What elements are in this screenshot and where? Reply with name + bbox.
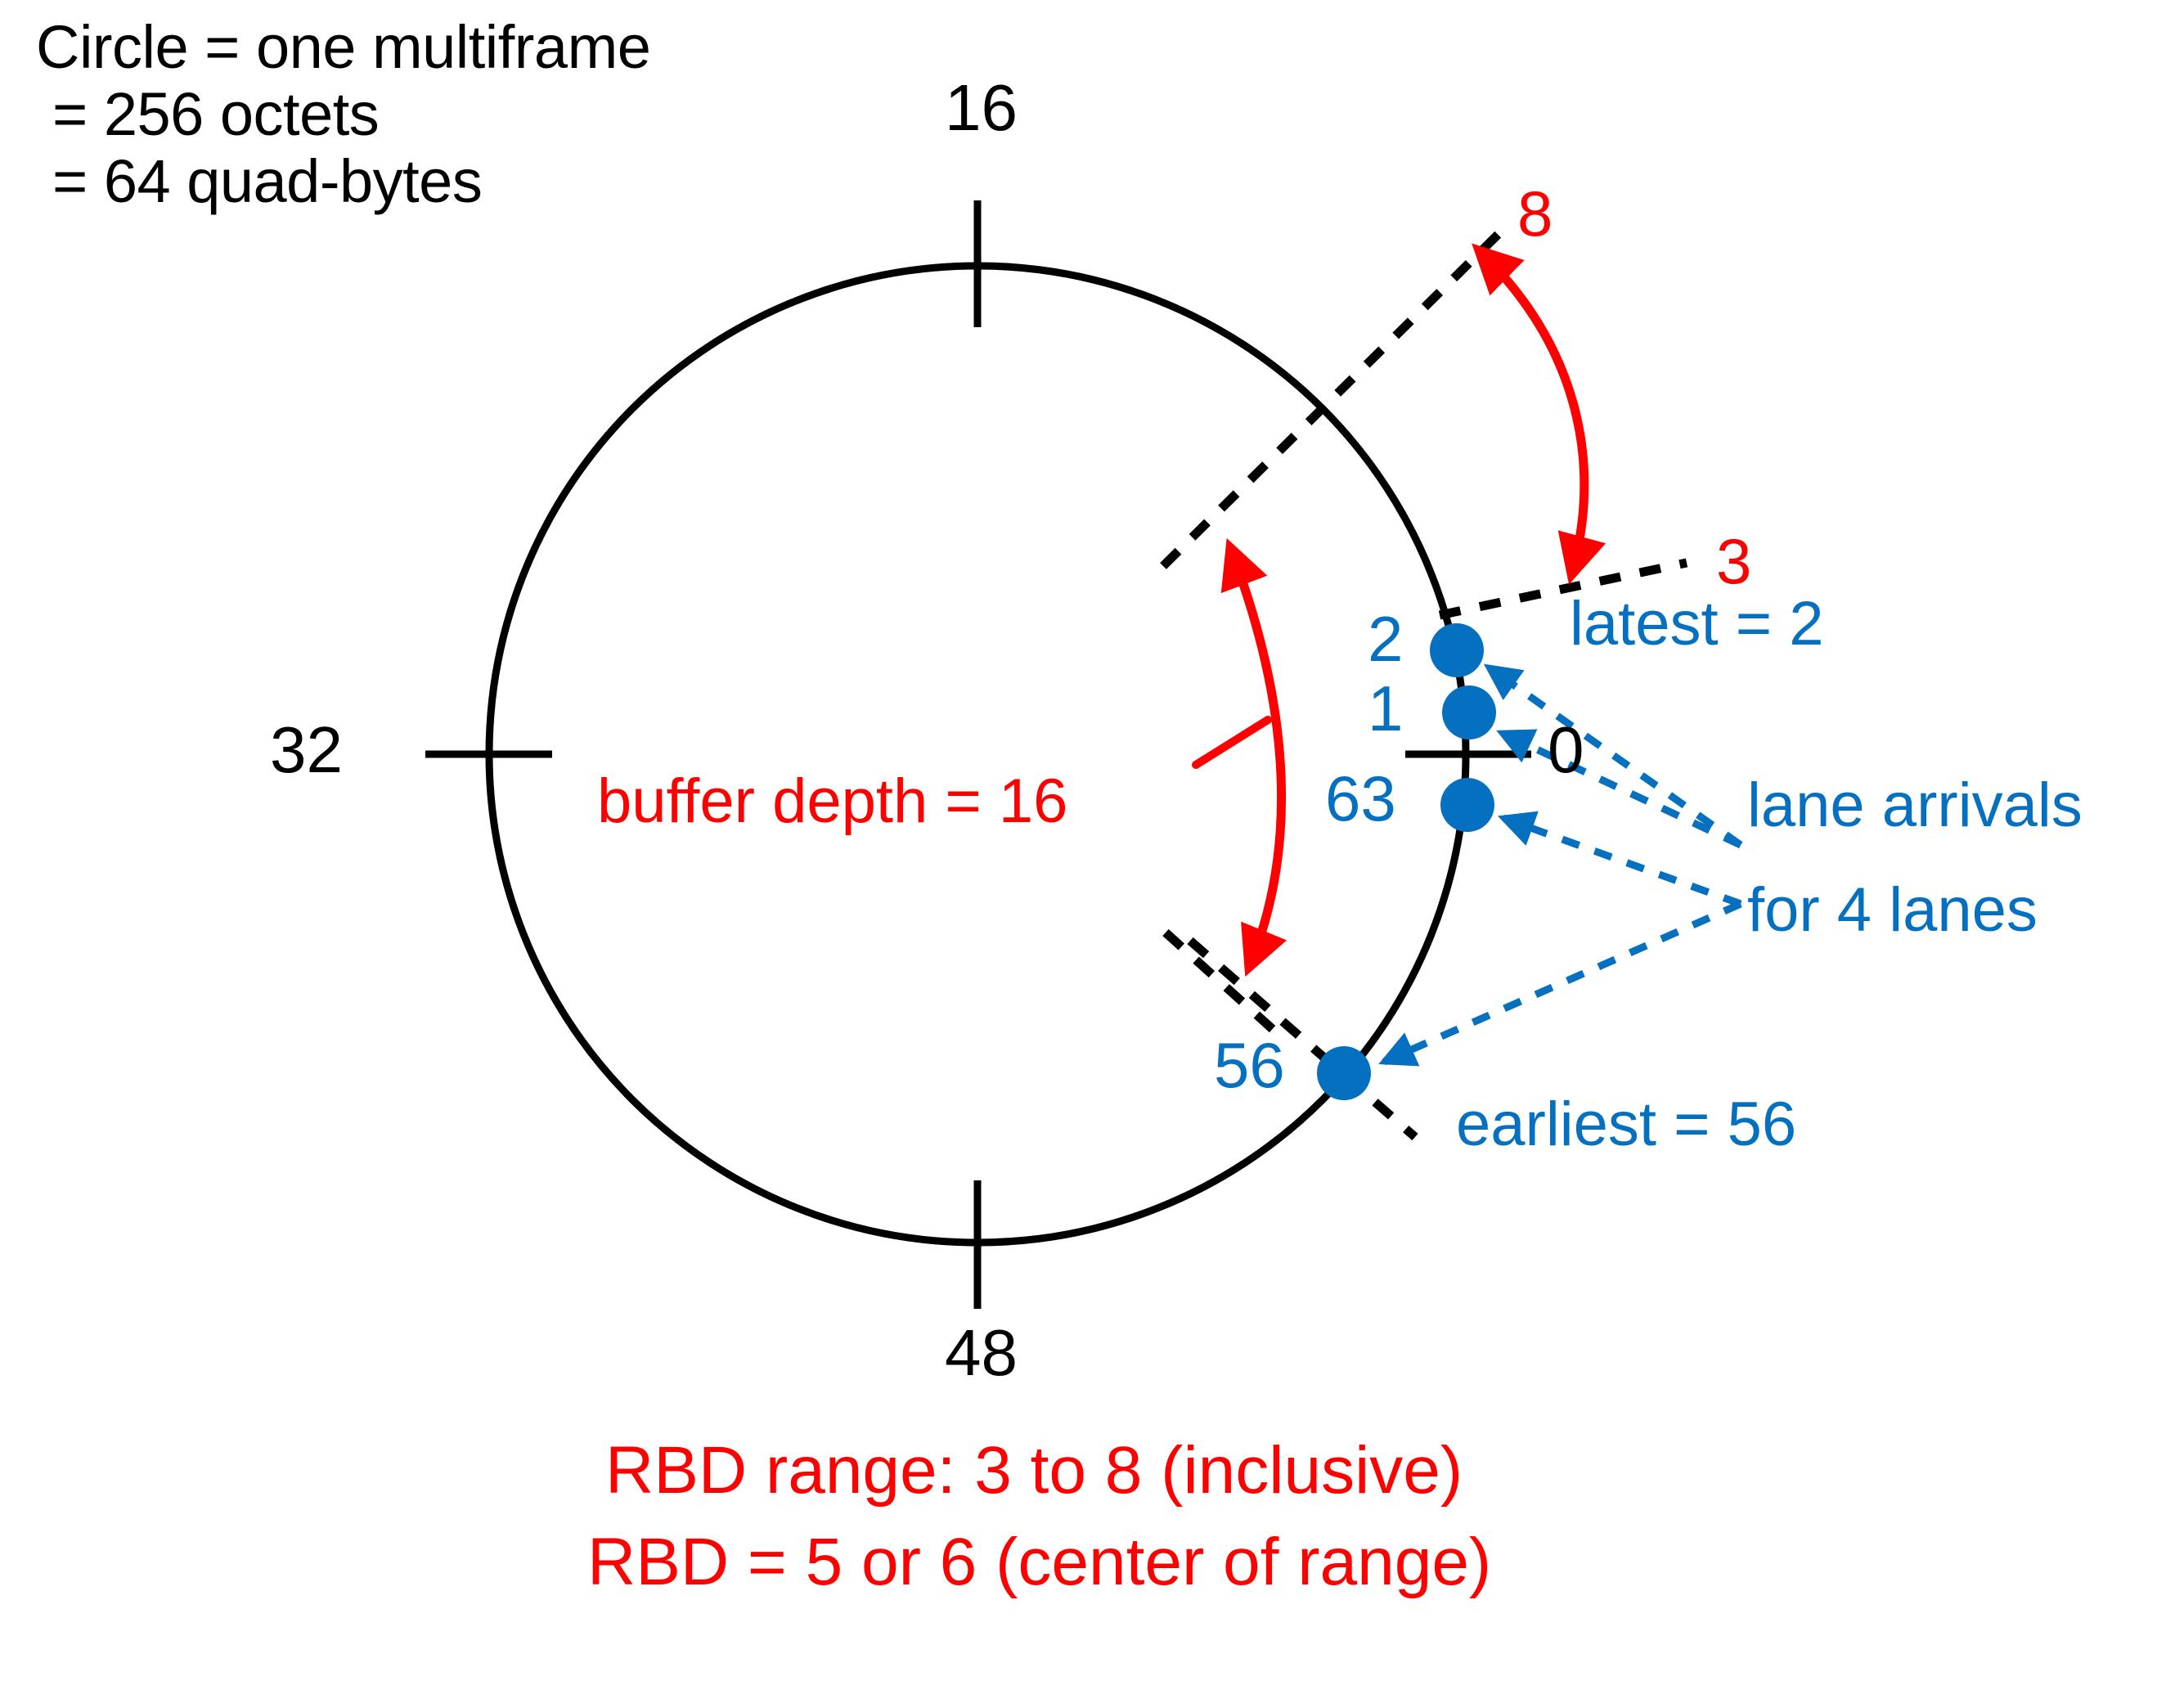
- lane-arrival-dot-2: [1430, 623, 1484, 677]
- dashed-radial-8: [1163, 229, 1503, 566]
- lane-arrival-dot-1: [1442, 685, 1496, 739]
- lane-arrivals-label-line2: for 4 lanes: [1747, 874, 2038, 947]
- note-line-2: = 256 octets: [36, 79, 379, 150]
- earliest-label: earliest = 56: [1456, 1088, 1796, 1162]
- red-arc-rbd-range: [1481, 252, 1584, 573]
- note-line-1: Circle = one multiframe: [36, 11, 650, 83]
- caption-line-1: RBD range: 3 to 8 (inclusive): [605, 1432, 1463, 1511]
- tick-label-16: 16: [945, 70, 1018, 146]
- diagram-canvas: Circle = one multiframe = 256 octets = 6…: [0, 0, 2184, 1681]
- red-arc-buffer-depth: [1231, 550, 1282, 965]
- dot-label-1: 1: [1368, 671, 1403, 746]
- lane-arrivals-label-line1: lane arrivals: [1747, 769, 2083, 843]
- note-line-3: = 64 quad-bytes: [36, 146, 482, 217]
- lane-arrival-dot-63: [1440, 778, 1494, 832]
- buffer-depth-label: buffer depth = 16: [597, 765, 1067, 838]
- red-leader-buffer-depth: [1196, 720, 1268, 765]
- dot-label-63: 63: [1325, 761, 1396, 836]
- caption-line-2: RBD = 5 or 6 (center of range): [587, 1523, 1491, 1602]
- latest-label: latest = 2: [1570, 587, 1824, 661]
- tick-label-32: 32: [270, 712, 343, 789]
- lane-arrival-dot-56: [1317, 1046, 1371, 1100]
- tick-label-0: 0: [1548, 712, 1584, 789]
- red-label-8: 8: [1517, 176, 1553, 251]
- dot-label-56: 56: [1214, 1027, 1285, 1103]
- tick-label-48: 48: [945, 1315, 1018, 1391]
- dot-label-2: 2: [1368, 601, 1403, 676]
